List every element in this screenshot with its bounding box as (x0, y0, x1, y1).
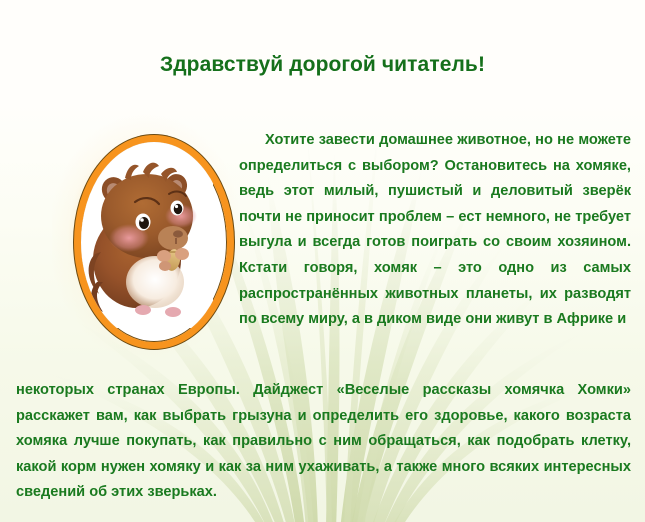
digest-description-paragraph: некоторых странах Европы. Дайджест «Весе… (16, 378, 631, 506)
intro-paragraph: Хотите завести домашнее животное, но не … (239, 128, 631, 333)
digest-description-text: некоторых странах Европы. Дайджест «Весе… (16, 382, 631, 500)
hamster-photo (81, 142, 213, 328)
hamster-portrait (52, 112, 240, 362)
portrait-oval-frame (74, 135, 234, 349)
digest-page: Здравствуй дорогой читатель! (0, 0, 645, 522)
intro-paragraph-text: Хотите завести домашнее животное, но не … (239, 132, 631, 327)
page-title: Здравствуй дорогой читатель! (0, 53, 645, 77)
